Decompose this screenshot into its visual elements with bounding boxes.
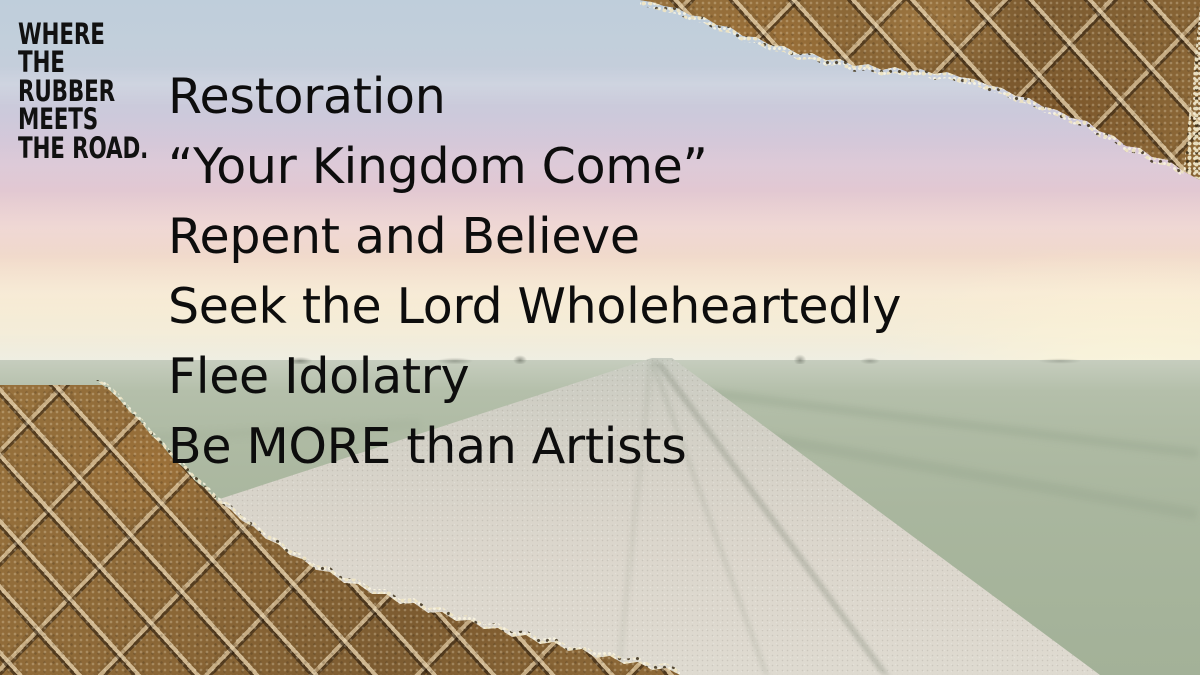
body-line-restoration: Restoration — [168, 62, 1178, 132]
slide-body-text: Restoration “Your Kingdom Come” Repent a… — [168, 62, 1178, 482]
series-logo: WHERE THE RUBBER MEETS THE ROAD. — [18, 20, 148, 162]
body-line-flee-idolatry: Flee Idolatry — [168, 342, 1178, 412]
body-line-seek-the-lord: Seek the Lord Wholeheartedly — [168, 272, 1178, 342]
body-line-repent-and-believe: Repent and Believe — [168, 202, 1178, 272]
body-line-your-kingdom-come: “Your Kingdom Come” — [168, 132, 1178, 202]
logo-line-2: THE — [18, 48, 148, 76]
logo-line-4: MEETS — [18, 105, 148, 133]
body-line-be-more-than-artists: Be MORE than Artists — [168, 412, 1178, 482]
logo-line-5: THE ROAD. — [18, 134, 148, 162]
logo-line-1: WHERE — [18, 20, 148, 48]
presentation-slide: angel WHERE THE RUBBER MEETS THE ROAD. R… — [0, 0, 1200, 675]
logo-line-3: RUBBER — [18, 77, 148, 105]
